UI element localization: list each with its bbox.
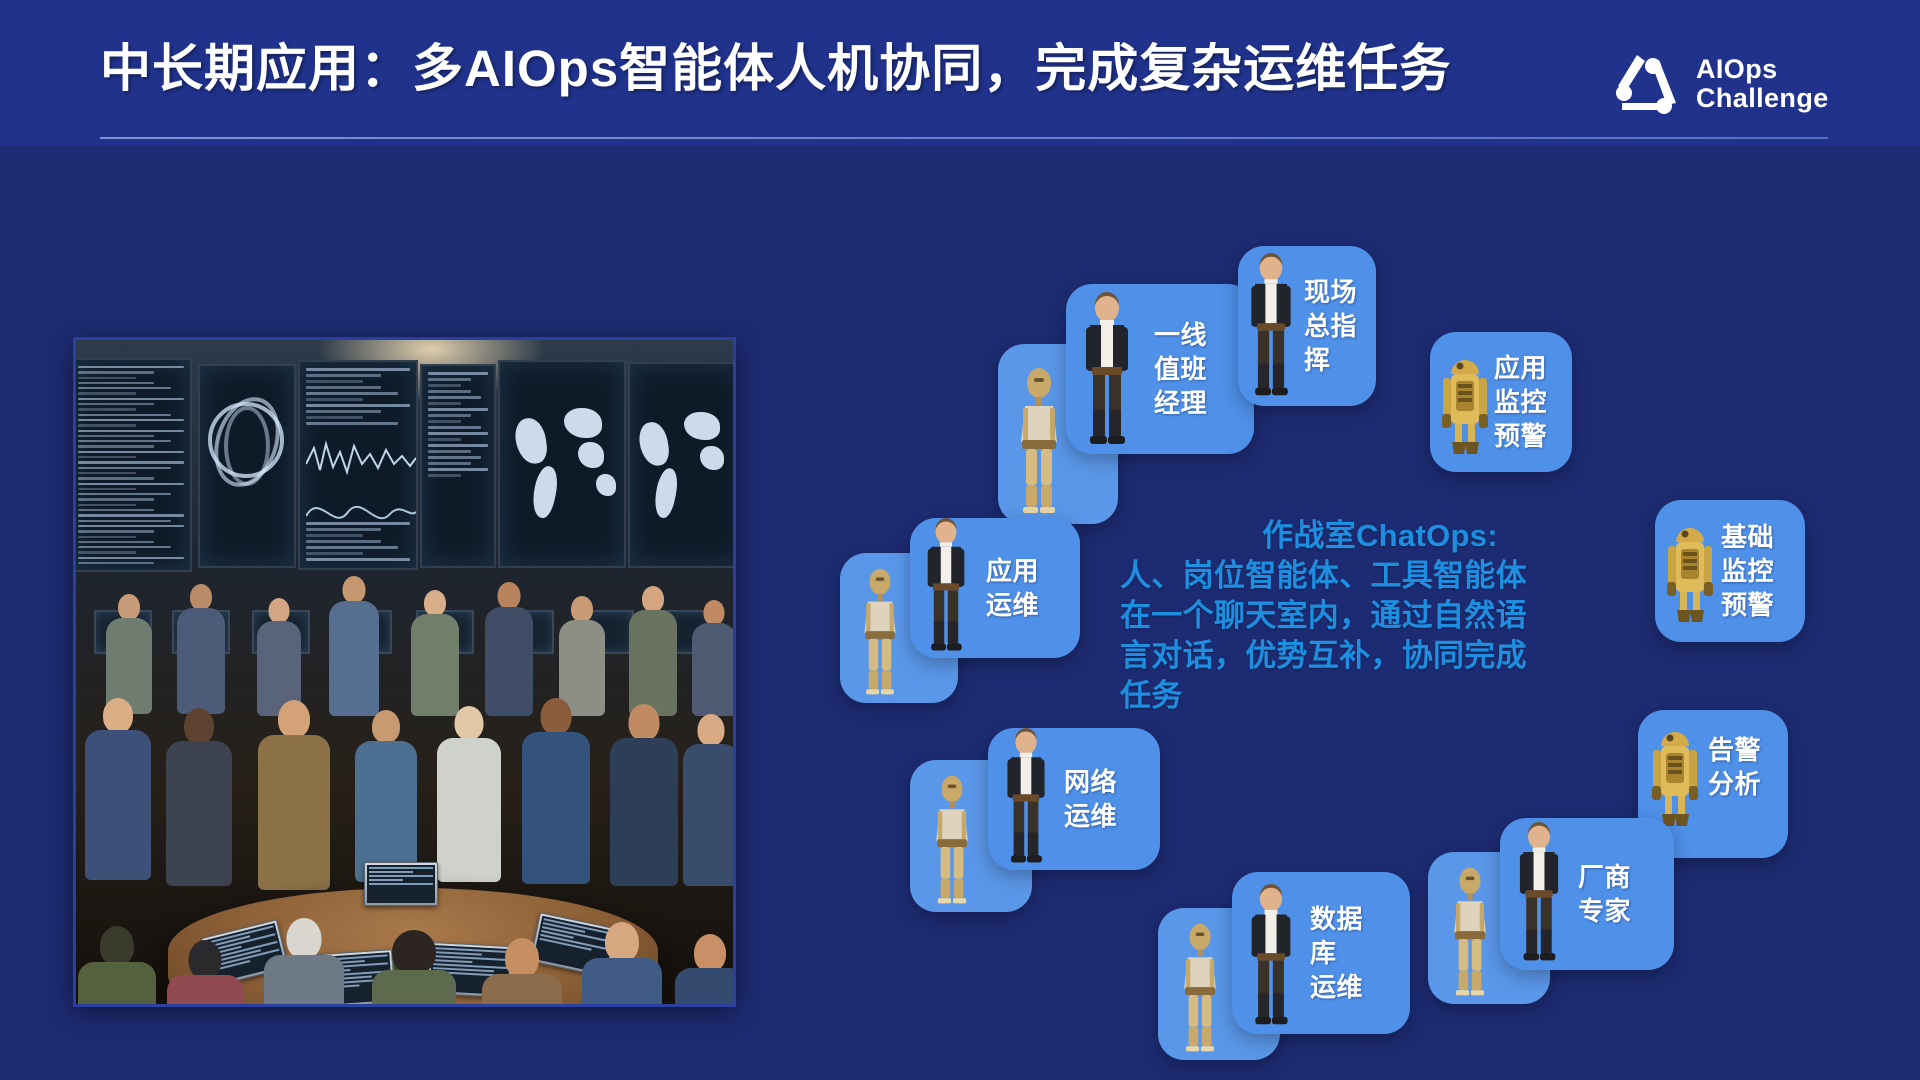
card-label-application-monitoring-alert: 应用 监控 预警: [1494, 351, 1547, 453]
brand-logo-text: AIOps Challenge: [1696, 55, 1829, 112]
person: [366, 930, 462, 1007]
brand-logo: AIOps Challenge: [1612, 44, 1844, 124]
human-figure-icon: [1510, 822, 1568, 964]
chatops-heading: 作战室ChatOps:: [1120, 516, 1640, 556]
human-figure-icon: [1242, 252, 1300, 400]
person: [406, 590, 464, 716]
wall-screen-world-map-2: [628, 362, 736, 568]
person: [350, 710, 422, 882]
warroom-photo: [73, 337, 736, 1007]
chatops-line-1: 人、岗位智能体、工具智能体: [1120, 556, 1640, 596]
droid-figure-icon: [1176, 922, 1224, 1054]
card-label-first-line-duty-manager: 一线 值班 经理: [1154, 318, 1207, 420]
person: [80, 698, 156, 880]
droid-figure-icon: [1446, 866, 1494, 998]
card-label-application-ops: 应用 运维: [986, 554, 1039, 622]
person: [516, 698, 596, 884]
title-divider: [100, 137, 1828, 139]
person: [100, 594, 158, 714]
card-label-on-site-commander: 现场 总指 挥: [1304, 275, 1357, 377]
card-network-ops[interactable]: 网络 运维: [988, 728, 1160, 870]
person: [252, 700, 336, 890]
person: [432, 706, 506, 882]
chatops-line-4: 任务: [1120, 676, 1640, 716]
chatops-description: 作战室ChatOps: 人、岗位智能体、工具智能体 在一个聊天室内，通过自然语 …: [1120, 516, 1640, 716]
person: [252, 598, 306, 716]
human-figure-icon: [918, 518, 974, 654]
person: [324, 576, 384, 716]
astro-droid-figure-icon: [1665, 516, 1715, 624]
person: [162, 940, 248, 1007]
chatops-line-2: 在一个聊天室内，通过自然语: [1120, 596, 1640, 636]
card-label-database-ops: 数据 库 运维: [1310, 902, 1363, 1004]
wall-screen-charts: [298, 360, 418, 570]
person: [672, 934, 736, 1007]
wall-screen-logs: [76, 358, 192, 572]
human-figure-icon: [1242, 884, 1300, 1028]
card-database-ops[interactable]: 数据 库 运维: [1232, 872, 1410, 1034]
card-vendor-expert[interactable]: 厂商 专家: [1500, 818, 1674, 970]
triangle-node-graph-icon: [1612, 49, 1684, 119]
person: [172, 584, 230, 714]
person: [624, 586, 682, 716]
person: [680, 714, 736, 886]
droid-figure-icon: [1012, 366, 1066, 516]
human-figure-icon: [998, 728, 1054, 866]
brand-logo-line2: Challenge: [1696, 84, 1829, 113]
astro-droid-figure-icon: [1650, 720, 1700, 828]
card-label-network-ops: 网络 运维: [1064, 765, 1117, 833]
person: [476, 938, 568, 1007]
person: [160, 708, 238, 886]
card-infrastructure-monitoring-alert[interactable]: 基础 监控 预警: [1655, 500, 1805, 642]
slide-root: 中长期应用：多AIOps智能体人机协同，完成复杂运维任务 AIOps: [0, 0, 1920, 1080]
card-label-infrastructure-monitoring-alert: 基础 监控 预警: [1721, 520, 1774, 622]
droid-figure-icon: [856, 567, 904, 697]
wall-screen-world-map-1: [498, 360, 626, 568]
brand-logo-line1: AIOps: [1696, 55, 1829, 84]
human-figure-icon: [1076, 292, 1138, 448]
person: [688, 600, 736, 716]
slide-header: 中长期应用：多AIOps智能体人机协同，完成复杂运维任务 AIOps: [0, 0, 1920, 152]
card-application-monitoring-alert[interactable]: 应用 监控 预警: [1430, 332, 1572, 472]
wall-screen-globe: [198, 364, 296, 568]
wall-screen-panels: [420, 364, 496, 568]
people-foreground: [76, 900, 736, 1007]
page-title: 中长期应用：多AIOps智能体人机协同，完成复杂运维任务: [100, 38, 1560, 100]
person: [258, 918, 350, 1007]
chatops-line-3: 言对话，优势互补，协同完成: [1120, 636, 1640, 676]
card-application-ops[interactable]: 应用 运维: [910, 518, 1080, 658]
video-wall: [76, 340, 736, 608]
card-label-alert-analysis: 告警 分析: [1708, 733, 1761, 801]
card-on-site-commander[interactable]: 现场 总指 挥: [1238, 246, 1376, 406]
person: [480, 582, 538, 716]
droid-figure-icon: [928, 774, 976, 906]
warroom-photo-image: [76, 340, 733, 1004]
person: [604, 704, 684, 886]
card-first-line-duty-manager[interactable]: 一线 值班 经理: [1066, 284, 1254, 454]
person: [576, 922, 668, 1007]
person: [73, 926, 162, 1007]
card-label-vendor-expert: 厂商 专家: [1578, 860, 1631, 928]
astro-droid-figure-icon: [1440, 348, 1490, 456]
